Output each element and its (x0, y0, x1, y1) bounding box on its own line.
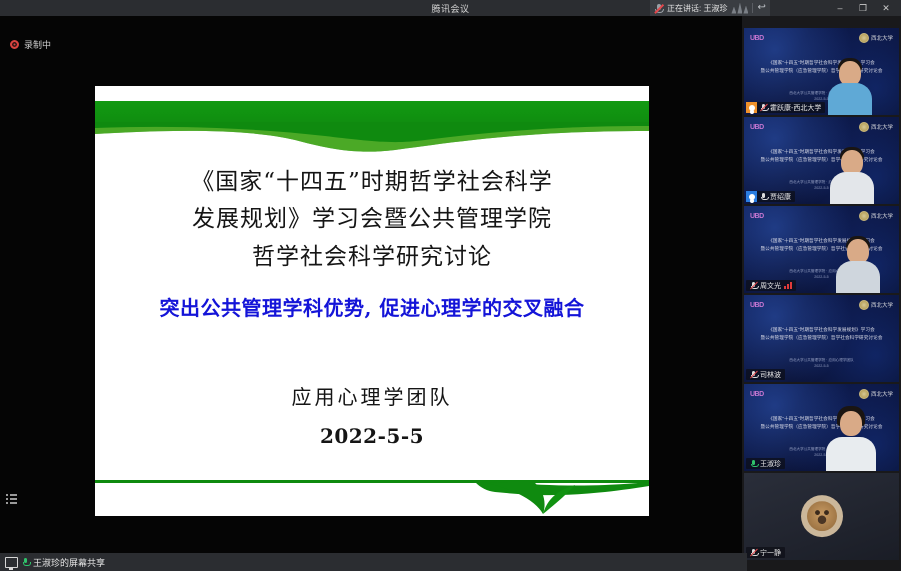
university-logo-icon: 西北大学 (859, 211, 893, 221)
person-avatar-icon (746, 191, 757, 202)
slide-date-label: 2022-5-5 (95, 424, 649, 448)
university-logo-icon: 西北大学 (859, 300, 893, 310)
person-avatar-icon (746, 102, 757, 113)
ubd-logo-icon: UBD (750, 213, 764, 220)
participant-name: 周文光 (760, 281, 781, 291)
audio-wave-icon (731, 3, 748, 14)
active-speaker-indicator[interactable]: 正在讲话: 王淑珍 ↩ (650, 0, 770, 16)
participant-name: 王淑珍 (760, 459, 781, 469)
tile-slide-line-1: 《国家“十四五”时期哲学社会科学发展规划》学习会 (748, 326, 895, 334)
participant-tile[interactable]: UBD 西北大学 《国家“十四五”时期哲学社会科学发展规划》学习会 暨公共管理学… (744, 384, 899, 471)
mic-muted-icon (654, 3, 663, 14)
record-dot-icon (10, 40, 19, 49)
participant-tile[interactable]: UBD 西北大学 《国家“十四五”时期哲学社会科学发展规划》学习会 暨公共管理学… (744, 295, 899, 382)
slide-bottom-leaf (95, 476, 649, 516)
share-status-bar: 王淑珍的屏幕共享 (0, 553, 747, 571)
ubd-logo-icon: UBD (750, 391, 764, 398)
participant-video-person (827, 57, 873, 115)
presentation-slide: 《国家“十四五”时期哲学社会科学 发展规划》学习会暨公共管理学院 哲学社会科学研… (95, 86, 649, 516)
ubd-logo-icon: UBD (750, 302, 764, 309)
participant-video-person (825, 405, 877, 471)
divider (752, 3, 753, 13)
tile-slide-header: UBD 西北大学 (750, 389, 893, 399)
slide-title-line-2: 发展规划》学习会暨公共管理学院 (95, 201, 649, 238)
slide-team-label: 应用心理学团队 (95, 381, 649, 410)
participant-filmstrip[interactable]: UBD 西北大学 《国家“十四五”时期哲学社会科学发展规划》学习会 暨公共管理学… (742, 16, 901, 571)
shared-screen-stage: 录制中 《国家“十四五”时期哲学社会科学 发展规划》学习会暨公共管理学院 哲学社… (0, 16, 742, 553)
share-status-label: 王淑珍的屏幕共享 (33, 556, 105, 569)
mic-muted-icon (750, 281, 757, 290)
participant-name: 宁一静 (760, 548, 781, 558)
participant-nameplate: 司林波 (746, 369, 785, 380)
ubd-logo-icon: UBD (750, 124, 764, 131)
close-button[interactable]: ✕ (881, 4, 891, 13)
participant-tile[interactable]: UBD 西北大学 《国家“十四五”时期哲学社会科学发展规划》学习会 暨公共管理学… (744, 28, 899, 115)
slide-text-block: 《国家“十四五”时期哲学社会科学 发展规划》学习会暨公共管理学院 哲学社会科学研… (95, 164, 649, 448)
participant-nameplate: 周文光 (746, 280, 796, 291)
tile-slide-header: UBD 西北大学 (750, 300, 893, 310)
minimize-button[interactable]: – (835, 4, 845, 13)
maximize-button[interactable]: ❐ (858, 4, 868, 13)
tile-slide-header: UBD 西北大学 (750, 122, 893, 132)
tile-slide-line-2: 暨公共管理学院（应急管理学院）哲学社会科学研究讨论会 (748, 334, 895, 342)
recording-indicator: 录制中 (10, 38, 51, 51)
university-logo-icon: 西北大学 (859, 122, 893, 132)
participant-video-person (835, 235, 881, 293)
tencent-meeting-window: 腾讯会议 正在讲话: 王淑珍 ↩ – ❐ ✕ 录制中 (0, 0, 901, 571)
participant-video-person (829, 146, 875, 204)
participant-name: 司林波 (760, 370, 781, 380)
tile-slide-header: UBD 西北大学 (750, 211, 893, 221)
mic-muted-icon (750, 548, 757, 557)
participant-name: 霍跃康-西北大学 (770, 103, 821, 113)
participant-name: 贾绍康 (770, 192, 791, 202)
participant-tile[interactable]: 宁一静 (744, 473, 899, 560)
slide-green-swoosh (95, 122, 649, 154)
share-screen-icon (5, 557, 18, 568)
window-controls: – ❐ ✕ (835, 0, 897, 16)
mic-muted-icon (760, 103, 767, 112)
tile-slide-text: 《国家“十四五”时期哲学社会科学发展规划》学习会 暨公共管理学院（应急管理学院）… (748, 326, 895, 342)
mic-muted-icon (760, 192, 767, 201)
participant-nameplate: 宁一静 (746, 547, 785, 558)
tile-slide-header: UBD 西北大学 (750, 33, 893, 43)
slide-subtitle: 突出公共管理学科优势, 促进心理学的交叉融合 (95, 292, 649, 321)
active-speaker-label: 正在讲话: 王淑珍 (667, 3, 727, 14)
app-title: 腾讯会议 (431, 2, 469, 15)
participant-tile[interactable]: UBD 西北大学 《国家“十四五”时期哲学社会科学发展规划》学习会 暨公共管理学… (744, 117, 899, 204)
participant-tile[interactable]: UBD 西北大学 《国家“十四五”时期哲学社会科学发展规划》学习会 暨公共管理学… (744, 206, 899, 293)
recording-label: 录制中 (24, 38, 51, 51)
university-logo-icon: 西北大学 (859, 33, 893, 43)
window-titlebar: 腾讯会议 正在讲话: 王淑珍 ↩ – ❐ ✕ (0, 0, 901, 16)
slide-title-line-1: 《国家“十四五”时期哲学社会科学 (95, 164, 649, 201)
university-logo-icon: 西北大学 (859, 389, 893, 399)
tile-slide-footer: 西北大学公共管理学院 · 应用心理学团队 2022-5-5 (748, 357, 895, 370)
slide-title-line-3: 哲学社会科学研究讨论 (95, 239, 649, 276)
mic-active-icon (750, 459, 757, 468)
participant-nameplate: 贾绍康 (746, 191, 795, 202)
mic-muted-icon (750, 370, 757, 379)
signal-bars-icon (784, 282, 792, 289)
dog-avatar-icon (801, 495, 843, 537)
return-arrow-icon[interactable]: ↩ (757, 3, 765, 13)
ubd-logo-icon: UBD (750, 35, 764, 42)
list-menu-icon[interactable] (5, 492, 19, 506)
participant-nameplate: 霍跃康-西北大学 (746, 102, 825, 113)
mic-active-icon (22, 558, 29, 567)
participant-nameplate: 王淑珍 (746, 458, 785, 469)
